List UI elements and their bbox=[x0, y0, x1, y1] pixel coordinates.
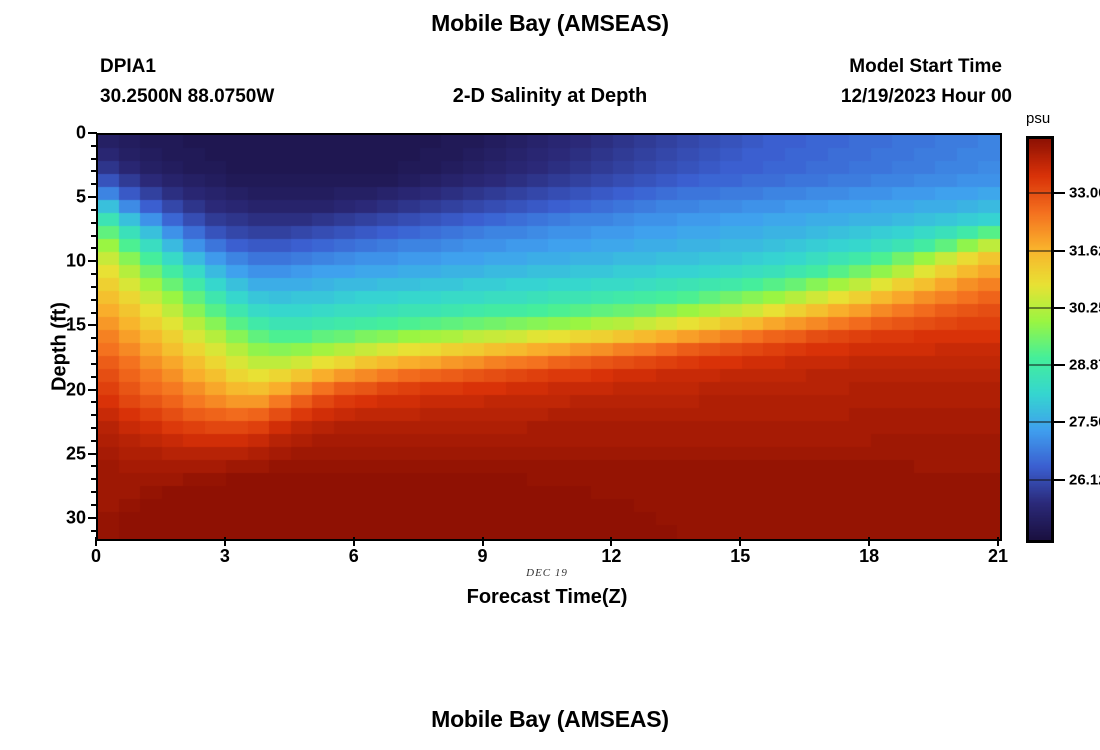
y-axis-title: Depth (ft) bbox=[49, 247, 72, 447]
y-axis-minor-tick bbox=[91, 491, 97, 493]
x-axis-tick-label: 0 bbox=[91, 546, 101, 567]
x-axis-tick-label: 18 bbox=[859, 546, 879, 567]
page-title: Mobile Bay (AMSEAS) bbox=[0, 10, 1100, 37]
y-axis-minor-tick bbox=[91, 376, 97, 378]
y-axis-minor-tick bbox=[91, 478, 97, 480]
y-axis-minor-tick bbox=[91, 299, 97, 301]
colorbar-tick-mark bbox=[1054, 421, 1065, 423]
colorbar-tick-line bbox=[1029, 250, 1051, 251]
colorbar-tick-mark bbox=[1054, 307, 1065, 309]
y-axis-tick-label: 0 bbox=[46, 123, 86, 144]
y-axis-minor-tick bbox=[91, 145, 97, 147]
colorbar-tick-mark bbox=[1054, 250, 1065, 252]
colorbar-tick-line bbox=[1029, 479, 1051, 480]
y-axis-minor-tick bbox=[91, 350, 97, 352]
y-axis-minor-tick bbox=[91, 465, 97, 467]
colorbar-units-label: psu bbox=[1026, 110, 1050, 127]
y-axis-tick-mark bbox=[88, 389, 97, 391]
colorbar-tick-label: 31.625 bbox=[1069, 242, 1100, 259]
x-axis-tick-mark bbox=[95, 537, 97, 546]
model-start-time-value: 12/19/2023 Hour 00 bbox=[841, 86, 1012, 108]
y-axis-tick-mark bbox=[88, 132, 97, 134]
y-axis-minor-tick bbox=[91, 183, 97, 185]
x-axis-tick-mark bbox=[353, 537, 355, 546]
x-axis-tick-mark bbox=[739, 537, 741, 546]
y-axis-minor-tick bbox=[91, 170, 97, 172]
colorbar-tick-line bbox=[1029, 193, 1051, 194]
x-axis-tick-mark bbox=[224, 537, 226, 546]
colorbar-tick-mark bbox=[1054, 192, 1065, 194]
colorbar-tick-label: 27.500 bbox=[1069, 414, 1100, 431]
date-label: DEC 19 bbox=[96, 567, 998, 579]
y-axis-minor-tick bbox=[91, 222, 97, 224]
colorbar-tick-label: 30.250 bbox=[1069, 299, 1100, 316]
y-axis-tick-mark bbox=[88, 196, 97, 198]
x-axis-tick-label: 21 bbox=[988, 546, 1008, 567]
colorbar-tick-label: 28.875 bbox=[1069, 357, 1100, 374]
y-axis-tick-label: 30 bbox=[46, 507, 86, 528]
y-axis-minor-tick bbox=[91, 312, 97, 314]
colorbar-tick-line bbox=[1029, 422, 1051, 423]
x-axis-tick-mark bbox=[610, 537, 612, 546]
colorbar-tick-line bbox=[1029, 307, 1051, 308]
x-axis-tick-label: 3 bbox=[220, 546, 230, 567]
y-axis-minor-tick bbox=[91, 337, 97, 339]
y-axis-tick-mark bbox=[88, 324, 97, 326]
station-id: DPIA1 bbox=[100, 56, 156, 78]
x-axis-tick-mark bbox=[868, 537, 870, 546]
model-start-time-label: Model Start Time bbox=[849, 56, 1002, 78]
x-axis-tick-label: 9 bbox=[478, 546, 488, 567]
y-axis-minor-tick bbox=[91, 530, 97, 532]
y-axis-tick-mark bbox=[88, 453, 97, 455]
colorbar-tick-mark bbox=[1054, 479, 1065, 481]
y-axis-minor-tick bbox=[91, 286, 97, 288]
salinity-heatmap-plot bbox=[96, 133, 1002, 541]
x-axis-tick-mark bbox=[997, 537, 999, 546]
colorbar-tick-label: 26.125 bbox=[1069, 471, 1100, 488]
y-axis-minor-tick bbox=[91, 235, 97, 237]
y-axis-minor-tick bbox=[91, 414, 97, 416]
y-axis-minor-tick bbox=[91, 427, 97, 429]
x-axis-tick-label: 15 bbox=[730, 546, 750, 567]
y-axis-minor-tick bbox=[91, 158, 97, 160]
y-axis-tick-mark bbox=[88, 517, 97, 519]
x-axis-tick-label: 6 bbox=[349, 546, 359, 567]
y-axis-minor-tick bbox=[91, 401, 97, 403]
colorbar-tick-line bbox=[1029, 365, 1051, 366]
colorbar-tick-mark bbox=[1054, 364, 1065, 366]
bottom-title: Mobile Bay (AMSEAS) bbox=[0, 706, 1100, 733]
heatmap-canvas bbox=[98, 135, 1000, 539]
y-axis-tick-label: 5 bbox=[46, 187, 86, 208]
y-axis-minor-tick bbox=[91, 273, 97, 275]
x-axis-title: Forecast Time(Z) bbox=[96, 586, 998, 609]
y-axis-minor-tick bbox=[91, 209, 97, 211]
colorbar-tick-label: 33.000 bbox=[1069, 185, 1100, 202]
x-axis-tick-label: 12 bbox=[601, 546, 621, 567]
x-axis-tick-mark bbox=[482, 537, 484, 546]
y-axis-minor-tick bbox=[91, 440, 97, 442]
y-axis-minor-tick bbox=[91, 363, 97, 365]
y-axis-tick-mark bbox=[88, 260, 97, 262]
y-axis-minor-tick bbox=[91, 504, 97, 506]
colorbar bbox=[1026, 136, 1054, 543]
y-axis-minor-tick bbox=[91, 247, 97, 249]
